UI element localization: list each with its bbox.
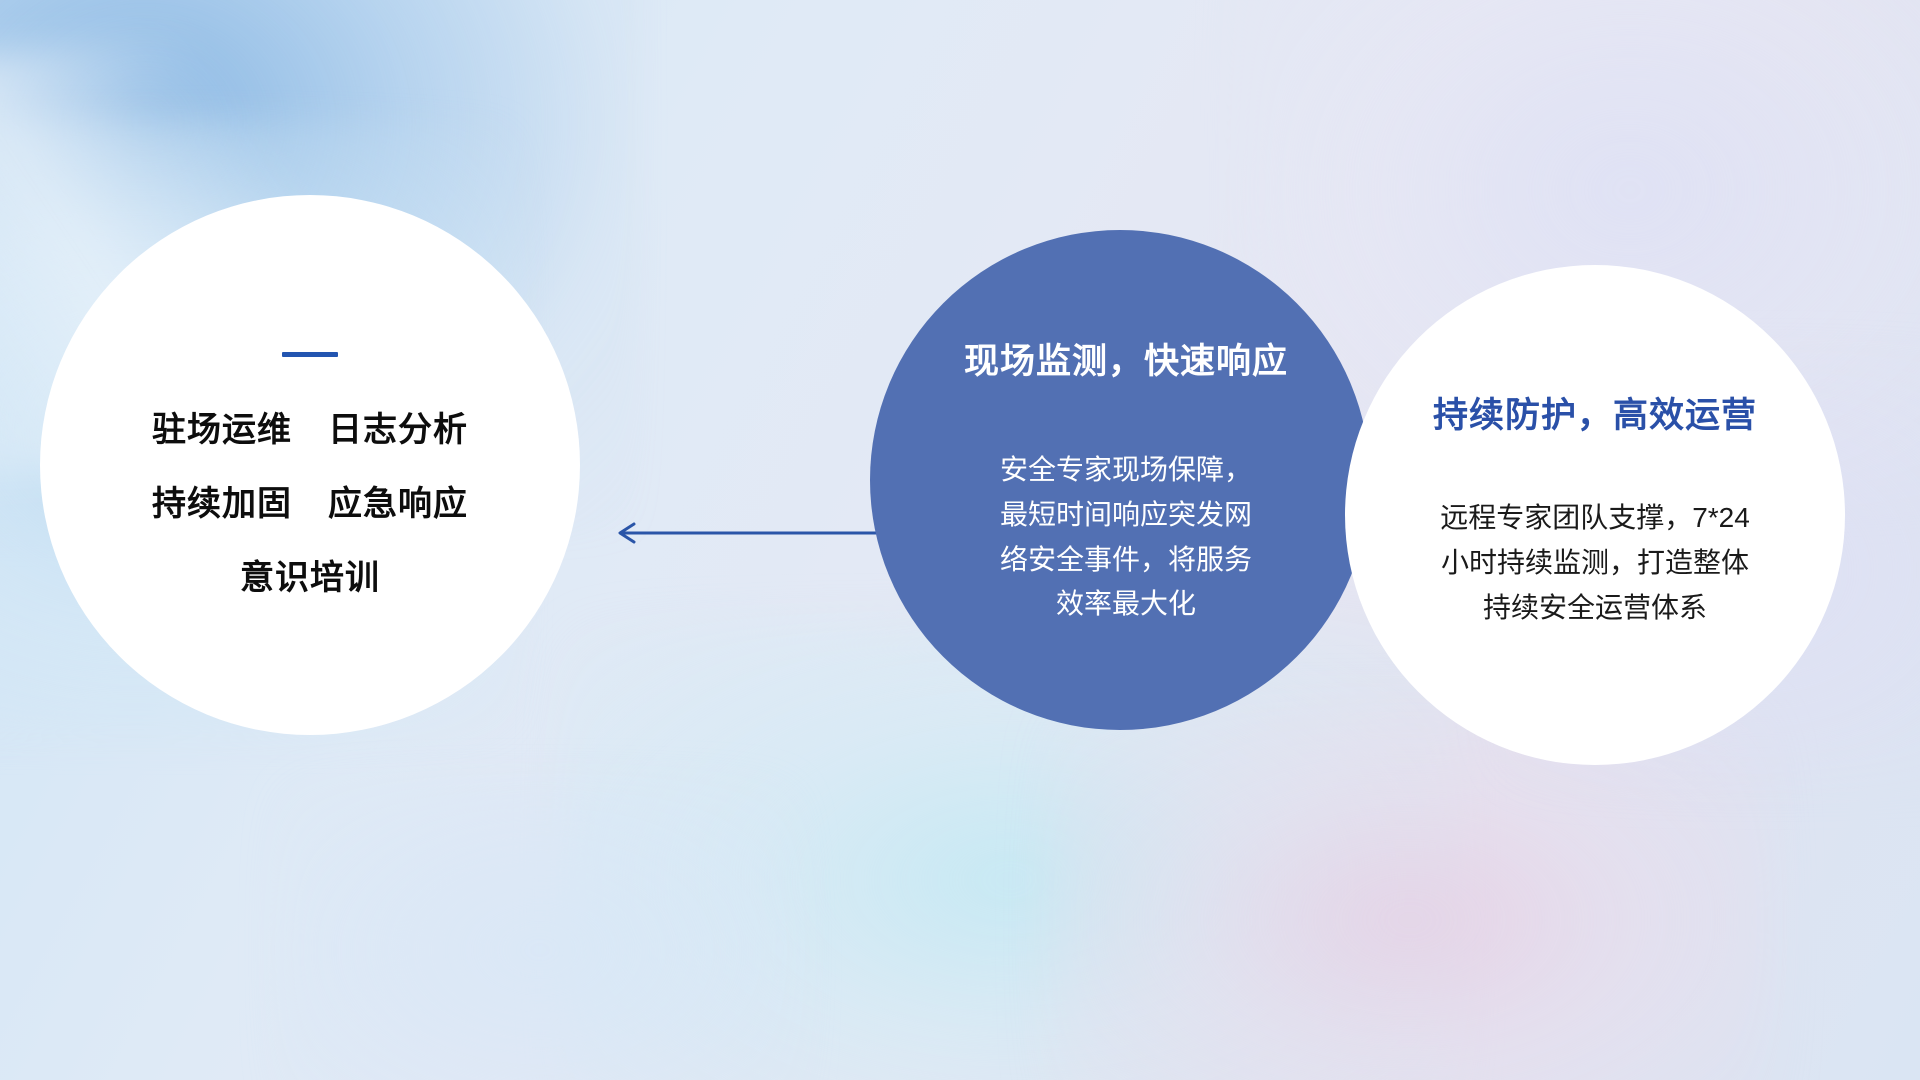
- service-tag: 驻场运维: [152, 413, 292, 447]
- service-tag-row: 意识培训: [80, 561, 540, 595]
- service-tag-row: 持续加固 应急响应: [80, 487, 540, 521]
- body-line: 效率最大化: [961, 582, 1291, 627]
- body-line: 小时持续监测，打造整体: [1390, 541, 1800, 586]
- right-operations-circle: 持续防护，高效运营 远程专家团队支撑，7*24 小时持续监测，打造整体 持续安全…: [1345, 265, 1845, 765]
- middle-onsite-circle: 现场监测，快速响应 安全专家现场保障， 最短时间响应突发网 络安全事件，将服务 …: [870, 230, 1370, 730]
- background-glow-bottom-left: [280, 780, 800, 1080]
- service-tag: 意识培训: [240, 561, 380, 595]
- arrow-left-connector: [600, 520, 880, 546]
- right-circle-body: 远程专家团队支撑，7*24 小时持续监测，打造整体 持续安全运营体系: [1390, 496, 1800, 630]
- middle-circle-title: 现场监测，快速响应: [916, 333, 1336, 384]
- right-circle-title: 持续防护，高效运营: [1380, 387, 1810, 438]
- body-line: 安全专家现场保障，: [961, 448, 1291, 493]
- title-divider: [282, 352, 338, 357]
- service-tag: 日志分析: [328, 413, 468, 447]
- middle-circle-content: 现场监测，快速响应 安全专家现场保障， 最短时间响应突发网 络安全事件，将服务 …: [916, 333, 1336, 627]
- slide-canvas: 驻场运维 日志分析 持续加固 应急响应 意识培训 现场监测，快速响应 安全专家现…: [0, 0, 1920, 1080]
- middle-circle-body: 安全专家现场保障， 最短时间响应突发网 络安全事件，将服务 效率最大化: [961, 448, 1291, 627]
- service-tag-row: 驻场运维 日志分析: [80, 413, 540, 447]
- body-line: 络安全事件，将服务: [961, 538, 1291, 583]
- body-line: 远程专家团队支撑，7*24: [1390, 496, 1800, 541]
- body-line: 最短时间响应突发网: [961, 493, 1291, 538]
- left-service-circle: 驻场运维 日志分析 持续加固 应急响应 意识培训: [40, 195, 580, 735]
- service-tag: 持续加固: [152, 487, 292, 521]
- service-tag: 应急响应: [328, 487, 468, 521]
- body-line: 持续安全运营体系: [1390, 586, 1800, 631]
- left-circle-content: 驻场运维 日志分析 持续加固 应急响应 意识培训: [80, 352, 540, 595]
- right-circle-content: 持续防护，高效运营 远程专家团队支撑，7*24 小时持续监测，打造整体 持续安全…: [1380, 387, 1810, 630]
